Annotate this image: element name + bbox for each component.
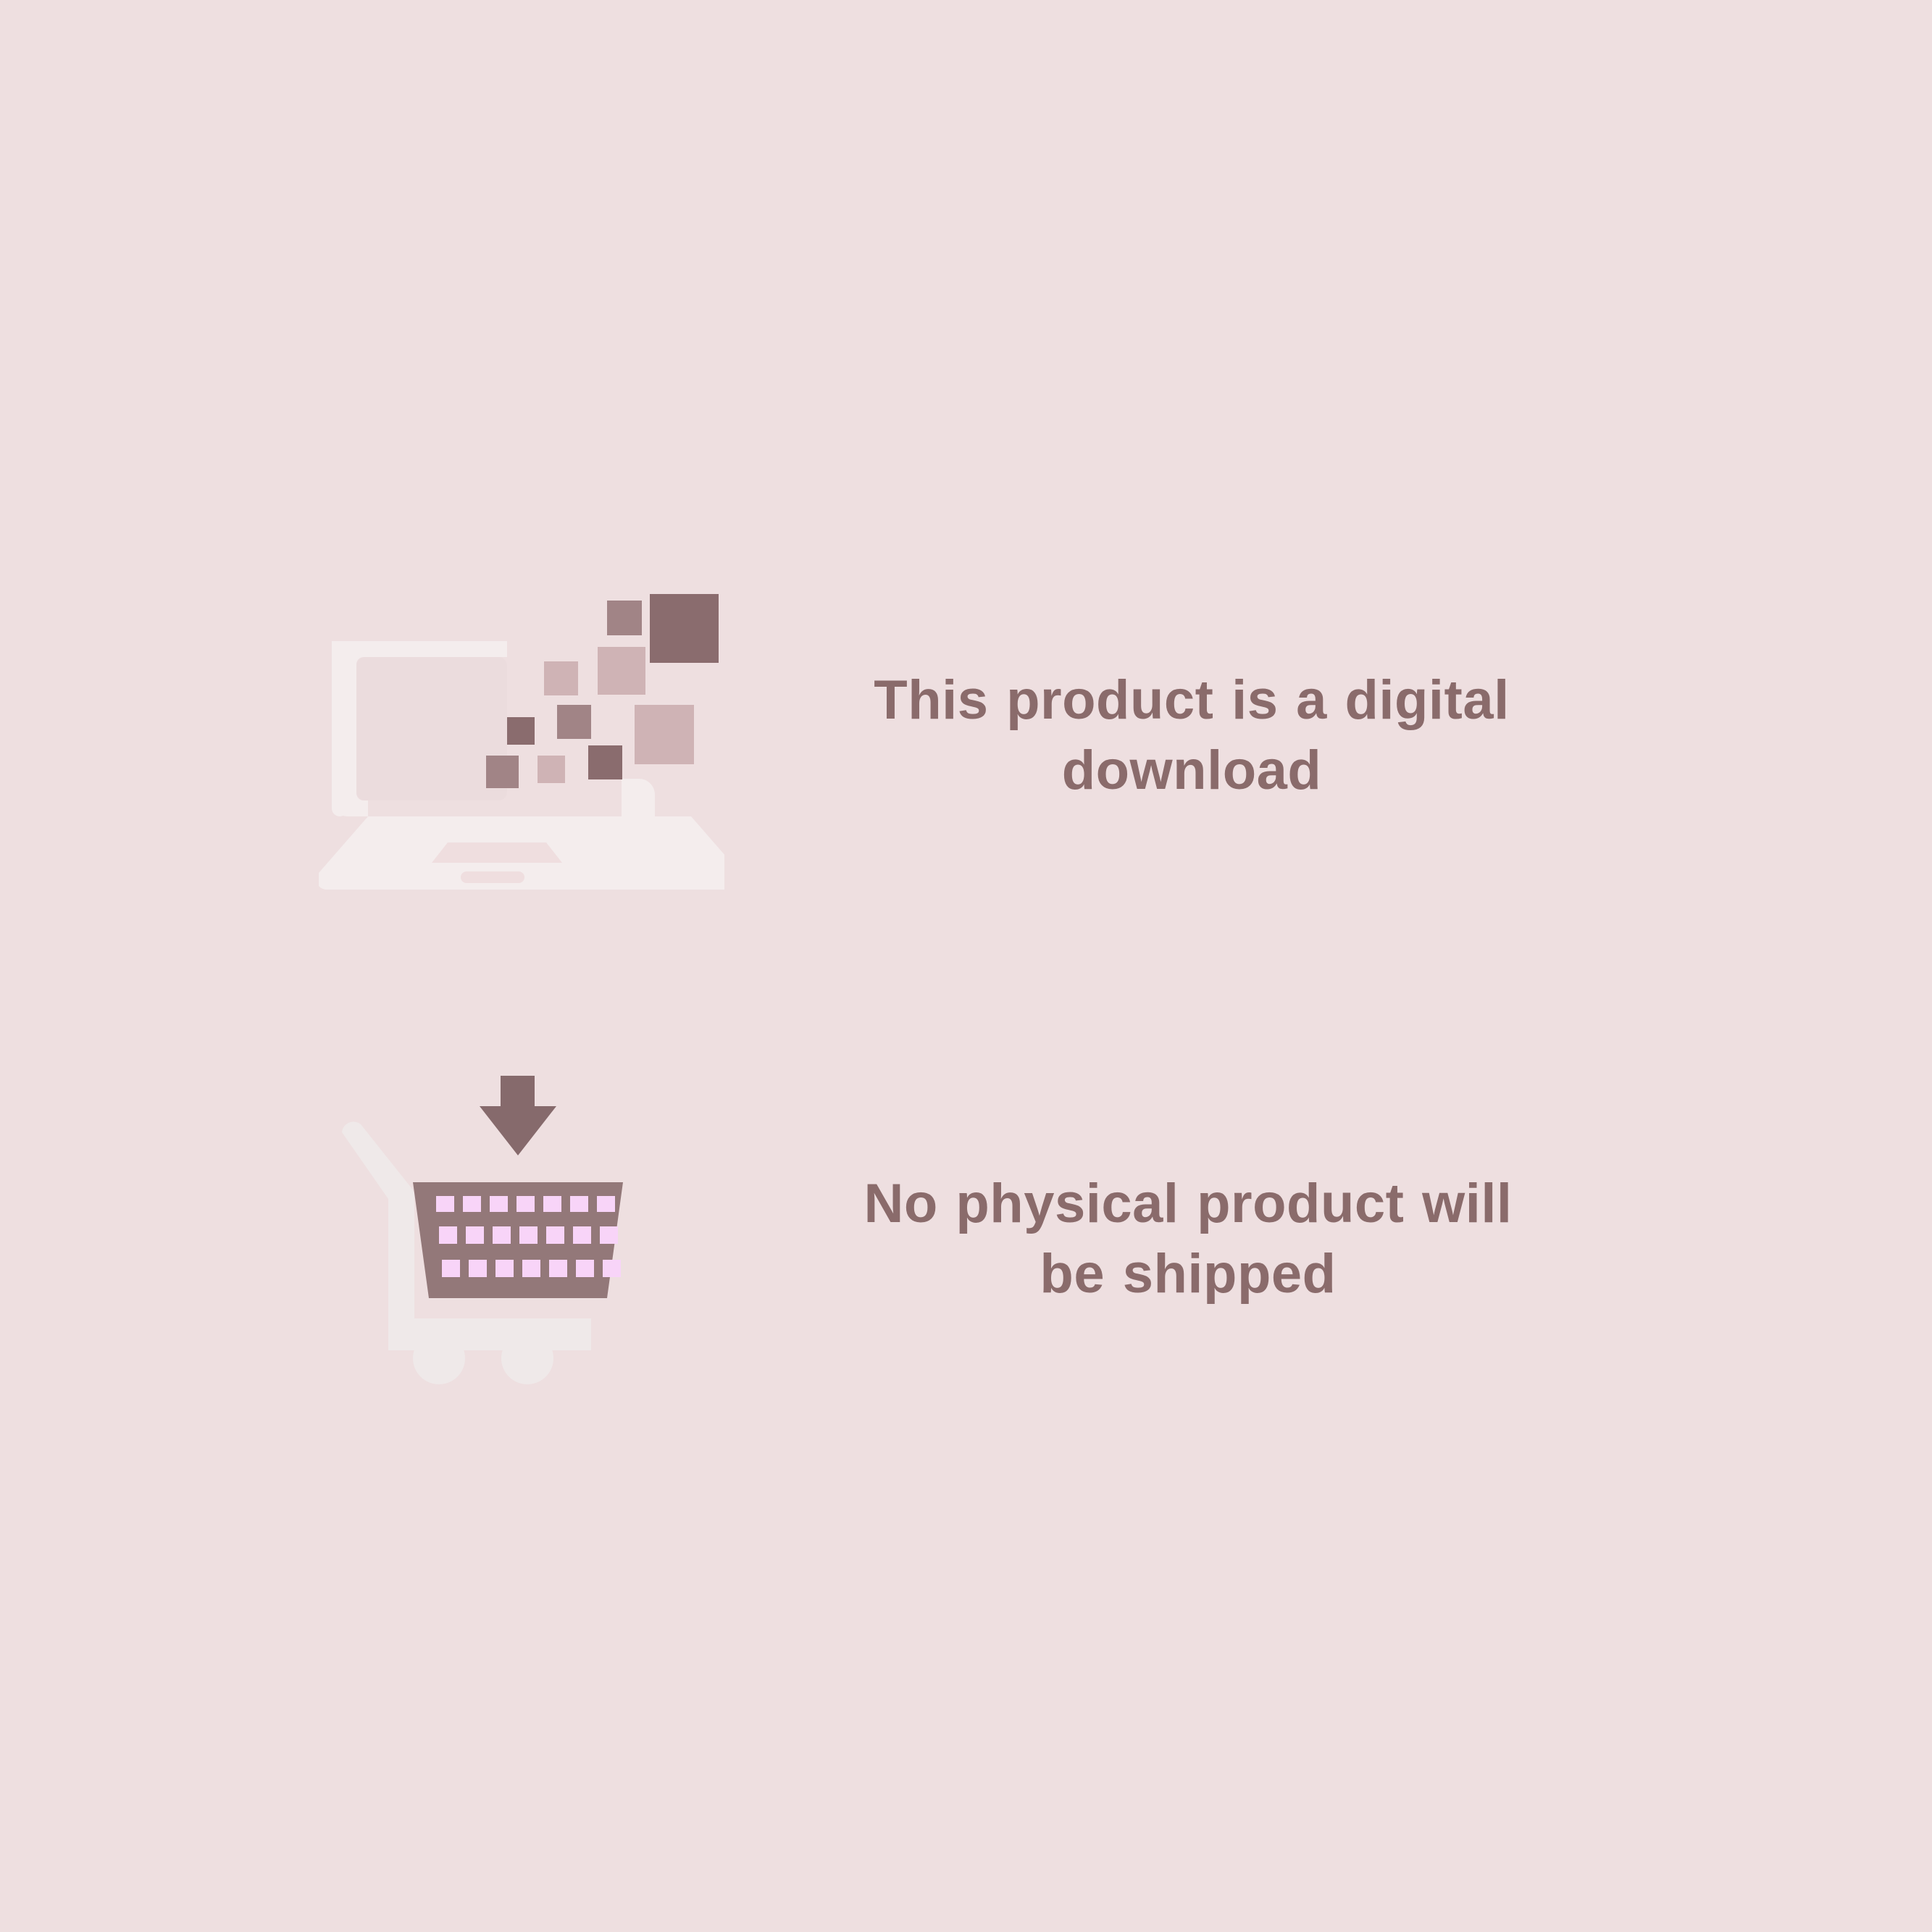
laptop-lid-top (332, 641, 507, 657)
cart-cell-r1c2 (463, 1196, 481, 1212)
cart-cell-r3c4 (522, 1260, 540, 1277)
data-square-1 (650, 594, 719, 663)
cart-cell-r3c2 (469, 1260, 487, 1277)
laptop-lid-right (622, 779, 655, 816)
laptop-trackpad (432, 842, 562, 863)
data-square-10 (538, 756, 565, 783)
laptop-screen (356, 657, 507, 800)
feature-text-line-2: be shipped (1040, 1243, 1336, 1305)
cart-wheel-right (501, 1332, 553, 1384)
cart-cell-r1c6 (570, 1196, 588, 1212)
cart-cell-r2c3 (493, 1226, 511, 1244)
data-square-6 (635, 705, 694, 764)
data-square-4 (544, 661, 578, 695)
laptop-upload-icon-svg (319, 561, 724, 909)
cart-cell-r3c5 (549, 1260, 567, 1277)
data-square-9 (486, 756, 519, 788)
feature-text-digital-download: This product is a digital download (782, 665, 1623, 806)
feature-text-line-1: No physical product will (863, 1173, 1512, 1234)
shopping-cart-download-icon (319, 1069, 681, 1409)
cart-cell-r3c7 (603, 1260, 621, 1277)
feature-row-no-shipping: No physical product will be shipped (319, 1058, 1623, 1420)
data-square-5 (557, 705, 591, 739)
cart-cell-r1c5 (543, 1196, 561, 1212)
feature-row-digital-download: This product is a digital download (319, 536, 1623, 934)
cart-wheel-left (413, 1332, 465, 1384)
cart-cell-r3c6 (576, 1260, 594, 1277)
cart-cell-r1c4 (517, 1196, 535, 1212)
cart-cell-r2c5 (546, 1226, 564, 1244)
icon-slot-no-shipping (319, 1069, 681, 1409)
data-square-8 (588, 745, 622, 779)
laptop-lid-side (332, 641, 348, 816)
cart-cell-r2c4 (519, 1226, 538, 1244)
cart-cell-r2c7 (600, 1226, 618, 1244)
feature-text-line-1: This product is a digital (874, 669, 1509, 731)
cart-handle (342, 1121, 414, 1342)
icon-slot-digital-download (319, 561, 724, 909)
cart-cell-r3c1 (442, 1260, 460, 1277)
download-arrow-icon (480, 1076, 556, 1155)
feature-text-no-shipping: No physical product will be shipped (768, 1168, 1623, 1310)
cart-cell-r1c3 (490, 1196, 508, 1212)
laptop-base-notch (461, 871, 524, 883)
cart-cell-r2c2 (466, 1226, 484, 1244)
shopping-cart-download-icon-svg (319, 1069, 681, 1409)
data-squares-group (486, 594, 719, 788)
feature-text-line-2: download (1062, 740, 1322, 801)
cart-cell-r1c7 (597, 1196, 615, 1212)
cart-cell-r1c1 (436, 1196, 454, 1212)
cart-cell-r3c3 (495, 1260, 514, 1277)
data-square-2 (607, 601, 642, 635)
laptop-upload-icon (319, 561, 724, 909)
cart-cell-r2c1 (439, 1226, 457, 1244)
cart-cell-r2c6 (573, 1226, 591, 1244)
data-square-3 (598, 647, 645, 695)
data-square-7 (507, 717, 535, 745)
poster-canvas: This product is a digital download (0, 0, 1932, 1932)
